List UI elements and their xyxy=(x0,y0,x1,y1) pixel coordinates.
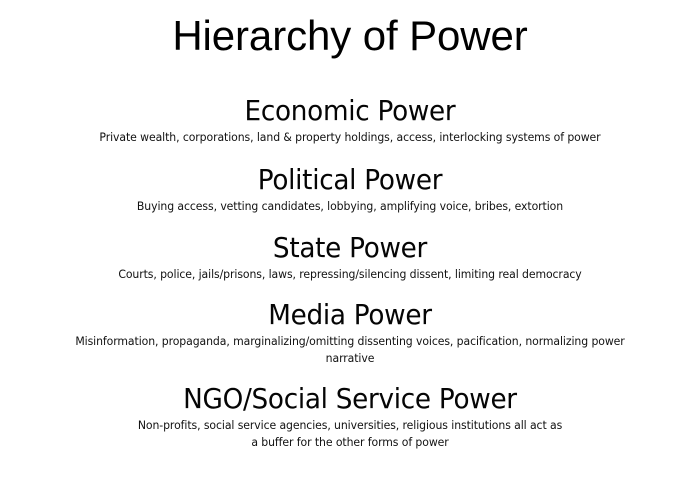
page-title: Hierarchy of Power xyxy=(0,11,700,61)
tier-heading-ngo-social-service-power: NGO/Social Service Power xyxy=(16,381,685,417)
tier-political-power: Political Power Buying access, vetting c… xyxy=(0,162,700,215)
tier-heading-economic-power: Economic Power xyxy=(16,93,685,129)
tier-media-power: Media Power Misinformation, propaganda, … xyxy=(0,297,700,367)
tier-subtitle-line: Private wealth, corporations, land & pro… xyxy=(21,129,679,146)
tier-subtitle-media-power: Misinformation, propaganda, marginalizin… xyxy=(21,333,679,367)
tier-subtitle-ngo-social-service-power: Non-profits, social service agencies, un… xyxy=(21,417,679,451)
tier-heading-media-power: Media Power xyxy=(16,297,685,333)
tier-subtitle-line: Misinformation, propaganda, marginalizin… xyxy=(21,333,679,350)
tier-subtitle-economic-power: Private wealth, corporations, land & pro… xyxy=(21,129,679,146)
tier-subtitle-line: narrative xyxy=(21,350,679,367)
tier-heading-state-power: State Power xyxy=(16,230,685,266)
tier-subtitle-line: Buying access, vetting candidates, lobby… xyxy=(21,198,679,215)
tier-heading-political-power: Political Power xyxy=(16,162,685,198)
tier-subtitle-political-power: Buying access, vetting candidates, lobby… xyxy=(21,198,679,215)
tier-subtitle-line: Courts, police, jails/prisons, laws, rep… xyxy=(21,266,679,283)
tier-subtitle-state-power: Courts, police, jails/prisons, laws, rep… xyxy=(21,266,679,283)
tier-state-power: State Power Courts, police, jails/prison… xyxy=(0,230,700,283)
tier-subtitle-line: a buffer for the other forms of power xyxy=(21,434,679,451)
tier-subtitle-line: Non-profits, social service agencies, un… xyxy=(21,417,679,434)
tier-economic-power: Economic Power Private wealth, corporati… xyxy=(0,93,700,146)
tier-ngo-social-service-power: NGO/Social Service Power Non-profits, so… xyxy=(0,381,700,451)
hierarchy-tier-list: Economic Power Private wealth, corporati… xyxy=(0,93,700,451)
slide-canvas: Hierarchy of Power Economic Power Privat… xyxy=(0,0,700,500)
